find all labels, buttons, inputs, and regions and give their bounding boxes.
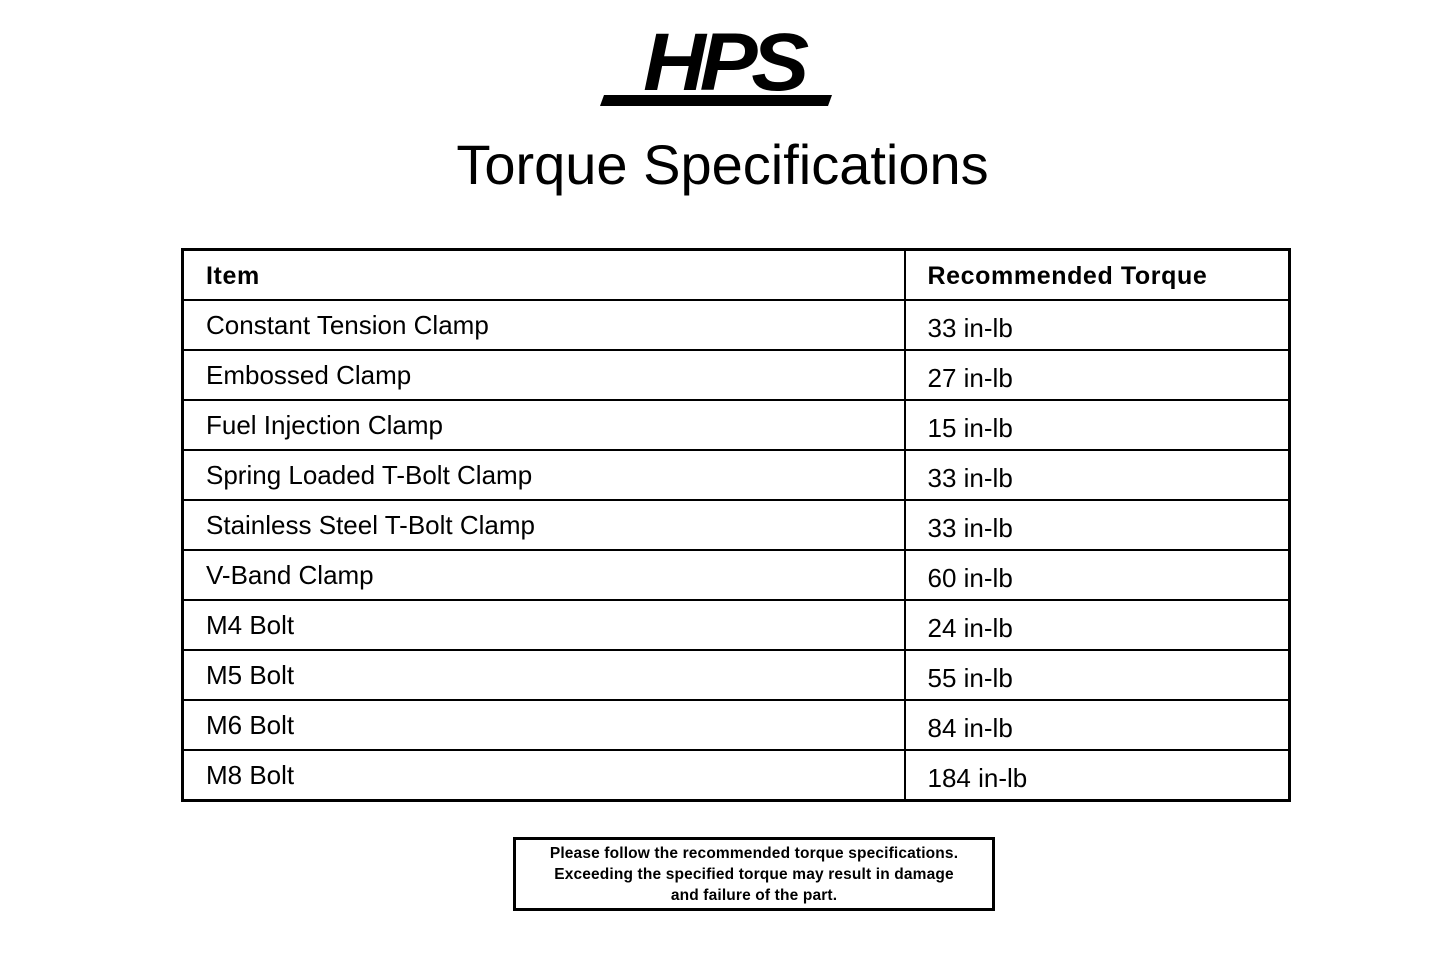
table-row: M5 Bolt 55 in-lb [183, 650, 1290, 700]
hps-logo: HPS [598, 26, 848, 112]
note-line: Please follow the recommended torque spe… [516, 843, 992, 864]
torque-value: 55 in-lb [906, 657, 1289, 693]
cell-item: Spring Loaded T-Bolt Clamp [183, 450, 905, 500]
cell-item: Stainless Steel T-Bolt Clamp [183, 500, 905, 550]
table-header-row: Item Recommended Torque [183, 250, 1290, 301]
hps-logo-underline-bar [599, 95, 831, 106]
torque-value: 27 in-lb [906, 357, 1289, 393]
table-header: Item Recommended Torque [183, 250, 1290, 301]
table-row: M6 Bolt 84 in-lb [183, 700, 1290, 750]
torque-value: 33 in-lb [906, 307, 1289, 343]
torque-value: 33 in-lb [906, 507, 1289, 543]
torque-specifications-table: Item Recommended Torque Constant Tension… [181, 248, 1291, 802]
cell-item: Fuel Injection Clamp [183, 400, 905, 450]
cell-torque: 24 in-lb [905, 600, 1290, 650]
cell-item: Embossed Clamp [183, 350, 905, 400]
table-row: V-Band Clamp 60 in-lb [183, 550, 1290, 600]
hps-logo-text: HPS [590, 22, 855, 104]
item-label: Embossed Clamp [184, 360, 904, 390]
item-label: Constant Tension Clamp [184, 310, 904, 340]
note-line: Exceeding the specified torque may resul… [516, 864, 992, 885]
cell-item: M8 Bolt [183, 750, 905, 801]
item-label: M6 Bolt [184, 710, 904, 740]
torque-table-container: Item Recommended Torque Constant Tension… [181, 248, 1288, 802]
cell-torque: 60 in-lb [905, 550, 1290, 600]
cell-item: M4 Bolt [183, 600, 905, 650]
cell-item: V-Band Clamp [183, 550, 905, 600]
torque-value: 33 in-lb [906, 457, 1289, 493]
note-line: and failure of the part. [516, 885, 992, 906]
cell-item: M6 Bolt [183, 700, 905, 750]
torque-value: 84 in-lb [906, 707, 1289, 743]
table-row: Stainless Steel T-Bolt Clamp 33 in-lb [183, 500, 1290, 550]
torque-value: 60 in-lb [906, 557, 1289, 593]
cell-torque: 33 in-lb [905, 500, 1290, 550]
cell-torque: 55 in-lb [905, 650, 1290, 700]
cell-item: M5 Bolt [183, 650, 905, 700]
table-row: Fuel Injection Clamp 15 in-lb [183, 400, 1290, 450]
table-row: Spring Loaded T-Bolt Clamp 33 in-lb [183, 450, 1290, 500]
torque-value: 15 in-lb [906, 407, 1289, 443]
item-label: M5 Bolt [184, 660, 904, 690]
column-header-recommended-torque-label: Recommended Torque [906, 260, 1289, 291]
cell-torque: 27 in-lb [905, 350, 1290, 400]
table-row: Constant Tension Clamp 33 in-lb [183, 300, 1290, 350]
cell-torque: 33 in-lb [905, 450, 1290, 500]
cell-item: Constant Tension Clamp [183, 300, 905, 350]
item-label: Stainless Steel T-Bolt Clamp [184, 510, 904, 540]
column-header-recommended-torque: Recommended Torque [905, 250, 1290, 301]
torque-warning-note: Please follow the recommended torque spe… [513, 837, 995, 911]
page-title: Torque Specifications [0, 132, 1445, 198]
item-label: V-Band Clamp [184, 560, 904, 590]
torque-value: 184 in-lb [906, 757, 1289, 793]
brand-logo-area: HPS [0, 26, 1445, 114]
table-body: Constant Tension Clamp 33 in-lb Embossed… [183, 300, 1290, 801]
table-row: M8 Bolt 184 in-lb [183, 750, 1290, 801]
cell-torque: 184 in-lb [905, 750, 1290, 801]
cell-torque: 15 in-lb [905, 400, 1290, 450]
cell-torque: 33 in-lb [905, 300, 1290, 350]
torque-value: 24 in-lb [906, 607, 1289, 643]
column-header-item: Item [183, 250, 905, 301]
column-header-item-label: Item [184, 260, 904, 291]
cell-torque: 84 in-lb [905, 700, 1290, 750]
item-label: M4 Bolt [184, 610, 904, 640]
table-row: M4 Bolt 24 in-lb [183, 600, 1290, 650]
item-label: Fuel Injection Clamp [184, 410, 904, 440]
item-label: Spring Loaded T-Bolt Clamp [184, 460, 904, 490]
item-label: M8 Bolt [184, 760, 904, 790]
table-row: Embossed Clamp 27 in-lb [183, 350, 1290, 400]
